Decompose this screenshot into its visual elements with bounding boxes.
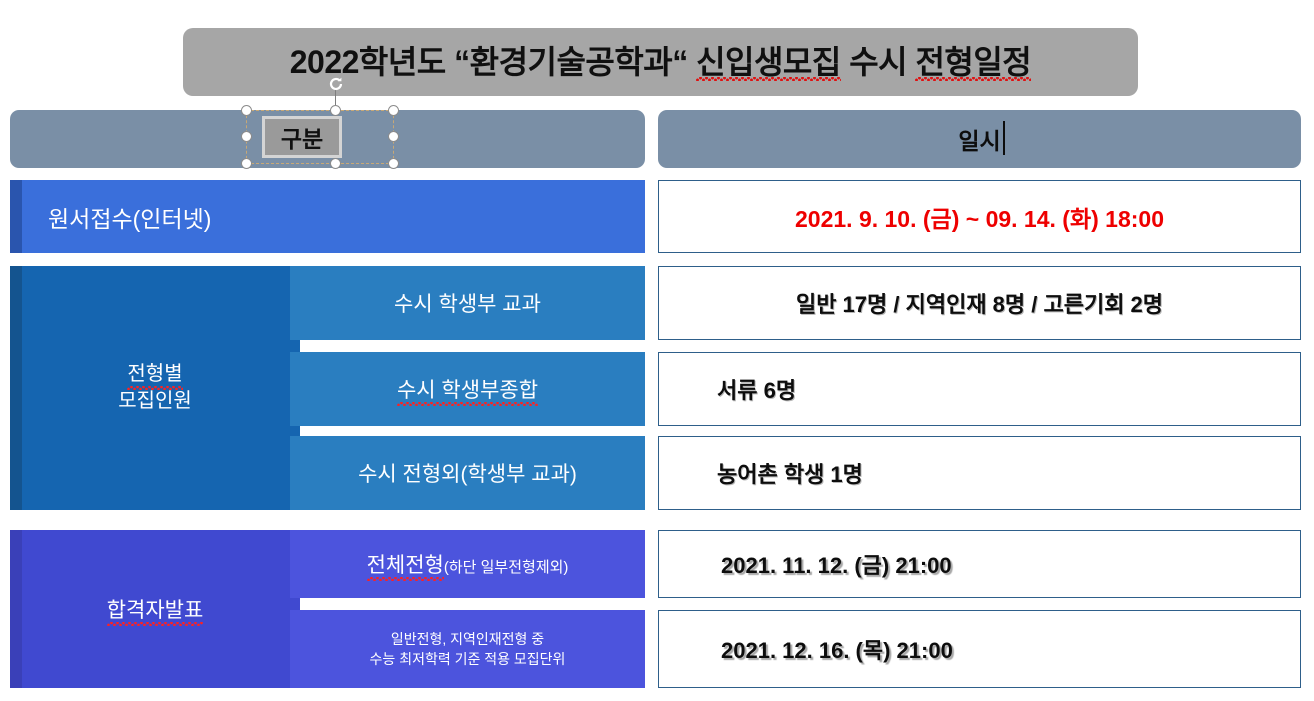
subrow-3-label: 수시 전형외(학생부 교과) (358, 458, 577, 488)
table-header-col1-label: 구분 (281, 120, 323, 154)
row-admissions-quota-category[interactable]: 전형별 모집인원 (10, 266, 300, 510)
subrow-2-label: 수시 학생부종합 (397, 374, 538, 404)
resize-handle-ne[interactable] (388, 105, 399, 116)
row-announcement-category[interactable]: 합격자발표 (10, 530, 300, 688)
bsub-2-label: 일반전형, 지역인재전형 중수능 최저학력 기준 적용 모집단위 (370, 629, 566, 670)
subrow-all-types[interactable]: 전체전형(하단 일부전형제외) (290, 530, 645, 598)
bsub-1-value-text: 2021. 11. 12. (금) 21:00 (659, 548, 1300, 580)
subrow-2-value-text: 서류 6명 (659, 373, 1300, 405)
subrow-1-value-text: 일반 17명 / 지역인재 8명 / 고른기회 2명 (659, 287, 1300, 319)
subrow-1-label: 수시 학생부 교과 (394, 288, 541, 318)
row1-value-box[interactable]: 2021. 9. 10. (금) ~ 09. 14. (화) 18:00 (658, 180, 1301, 253)
row1-category-label: 원서접수(인터넷) (48, 180, 211, 253)
subrow-susi-jeonhyeongoe[interactable]: 수시 전형외(학생부 교과) (290, 436, 645, 510)
table-header-col2-label: 일시 (958, 122, 1000, 156)
resize-handle-se[interactable] (388, 158, 399, 169)
row1-value-text: 2021. 9. 10. (금) ~ 09. 14. (화) 18:00 (659, 200, 1300, 234)
selected-textbox-fill[interactable]: 구분 (262, 116, 342, 158)
slide-canvas: 2022학년도 “환경기술공학과“ 신입생모집 수시 전형일정 일시 구분 원서… (0, 0, 1314, 701)
table-header-col2[interactable]: 일시 (658, 110, 1301, 168)
subrow-min-csat-criteria[interactable]: 일반전형, 지역인재전형 중수능 최저학력 기준 적용 모집단위 (290, 610, 645, 688)
mid-category-line2: 모집인원 (118, 388, 192, 415)
title-part-mid: 수시 (841, 44, 916, 80)
page-title: 2022학년도 “환경기술공학과“ 신입생모집 수시 전형일정 (290, 46, 1032, 78)
bot-category-label: 합격자발표 (10, 530, 300, 688)
bsub-1-label-note: (하단 일부전형제외) (444, 559, 569, 576)
rotate-icon[interactable] (328, 76, 344, 92)
resize-handle-nw[interactable] (241, 105, 252, 116)
bsub-1-value-box[interactable]: 2021. 11. 12. (금) 21:00 (658, 530, 1301, 598)
bsub-2-value-text: 2021. 12. 16. (목) 21:00 (659, 633, 1300, 665)
resize-handle-w[interactable] (241, 131, 252, 142)
subrow-susi-gyogwa[interactable]: 수시 학생부 교과 (290, 266, 645, 340)
subrow-susi-jonghap[interactable]: 수시 학생부종합 (290, 352, 645, 426)
mid-category-label: 전형별 모집인원 (10, 266, 300, 510)
row1-accent-bar (10, 180, 22, 253)
title-misspelled-word-2: 전형일정 (915, 46, 1031, 78)
bsub-2-label-line1: 일반전형, 지역인재전형 중 (391, 631, 544, 647)
bsub-1-label-main: 전체전형 (367, 549, 444, 579)
mid-category-line1: 전형별 (127, 361, 182, 388)
row-application-category[interactable]: 원서접수(인터넷) (10, 180, 645, 253)
resize-handle-sw[interactable] (241, 158, 252, 169)
subrow-2-value-box[interactable]: 서류 6명 (658, 352, 1301, 426)
resize-handle-s[interactable] (330, 158, 341, 169)
subrow-3-value-text: 농어촌 학생 1명 (659, 457, 1300, 489)
title-misspelled-word-1: 신입생모집 (696, 46, 841, 78)
subrow-1-value-box[interactable]: 일반 17명 / 지역인재 8명 / 고른기회 2명 (658, 266, 1301, 340)
bsub-1-label: 전체전형(하단 일부전형제외) (367, 549, 569, 579)
subrow-3-value-box[interactable]: 농어촌 학생 1명 (658, 436, 1301, 510)
slide-title-bar[interactable]: 2022학년도 “환경기술공학과“ 신입생모집 수시 전형일정 (183, 28, 1138, 96)
selected-textbox[interactable]: 구분 (262, 116, 342, 158)
bsub-2-value-box[interactable]: 2021. 12. 16. (목) 21:00 (658, 610, 1301, 688)
bot-category-text: 합격자발표 (107, 594, 204, 624)
resize-handle-e[interactable] (388, 131, 399, 142)
bsub-2-label-line2: 수능 최저학력 기준 적용 모집단위 (370, 651, 566, 667)
title-part-plain: 2022학년도 “환경기술공학과“ (290, 44, 696, 80)
resize-handle-n[interactable] (330, 105, 341, 116)
